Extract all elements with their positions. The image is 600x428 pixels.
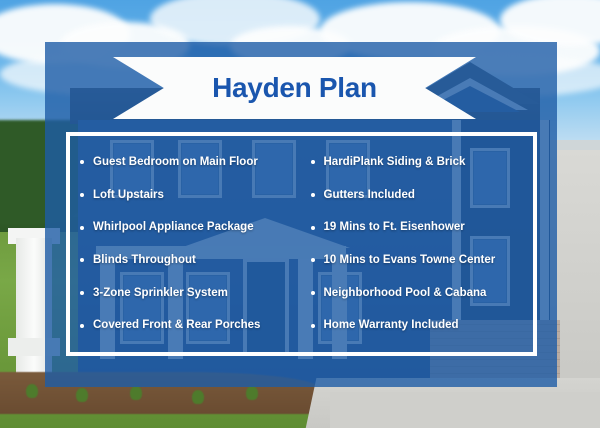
driveway	[330, 392, 600, 428]
feature-list-box: Guest Bedroom on Main Floor Loft Upstair…	[66, 132, 537, 356]
bullet-icon	[311, 193, 315, 197]
shrub	[26, 384, 38, 398]
list-item: 10 Mins to Evans Towne Center	[311, 254, 534, 267]
list-item: Blinds Throughout	[80, 254, 303, 267]
list-item-label: Blinds Throughout	[93, 254, 196, 267]
bullet-icon	[80, 160, 84, 164]
shrub	[76, 388, 88, 402]
bullet-icon	[311, 324, 315, 328]
feature-column-left: Guest Bedroom on Main Floor Loft Upstair…	[70, 136, 303, 352]
list-item-label: Whirlpool Appliance Package	[93, 221, 254, 234]
list-item-label: Loft Upstairs	[93, 189, 164, 202]
list-item-label: Home Warranty Included	[324, 319, 459, 332]
list-item: Covered Front & Rear Porches	[80, 319, 303, 332]
bullet-icon	[311, 291, 315, 295]
page-title: Hayden Plan	[113, 57, 476, 119]
shrub	[246, 386, 258, 400]
list-item: Guest Bedroom on Main Floor	[80, 156, 303, 169]
shrub	[130, 386, 142, 400]
list-item: 3-Zone Sprinkler System	[80, 287, 303, 300]
bullet-icon	[80, 324, 84, 328]
bullet-icon	[80, 226, 84, 230]
bullet-icon	[80, 193, 84, 197]
list-item-label: HardiPlank Siding & Brick	[324, 156, 466, 169]
list-item-label: Gutters Included	[324, 189, 415, 202]
list-item: Loft Upstairs	[80, 189, 303, 202]
bullet-icon	[80, 291, 84, 295]
feature-column-right: HardiPlank Siding & Brick Gutters Includ…	[303, 136, 534, 352]
list-item: HardiPlank Siding & Brick	[311, 156, 534, 169]
shrub	[192, 390, 204, 404]
list-item: Home Warranty Included	[311, 319, 534, 332]
list-item: Whirlpool Appliance Package	[80, 221, 303, 234]
list-item: Neighborhood Pool & Cabana	[311, 287, 534, 300]
list-item: 19 Mins to Ft. Eisenhower	[311, 221, 534, 234]
bullet-icon	[311, 160, 315, 164]
title-ribbon: Hayden Plan	[113, 57, 476, 119]
list-item: Gutters Included	[311, 189, 534, 202]
list-item-label: 3-Zone Sprinkler System	[93, 287, 228, 300]
list-item-label: Covered Front & Rear Porches	[93, 319, 260, 332]
list-item-label: 19 Mins to Ft. Eisenhower	[324, 221, 465, 234]
bullet-icon	[311, 258, 315, 262]
bullet-icon	[80, 258, 84, 262]
bullet-icon	[311, 226, 315, 230]
list-item-label: 10 Mins to Evans Towne Center	[324, 254, 496, 267]
list-item-label: Guest Bedroom on Main Floor	[93, 156, 258, 169]
list-item-label: Neighborhood Pool & Cabana	[324, 287, 487, 300]
